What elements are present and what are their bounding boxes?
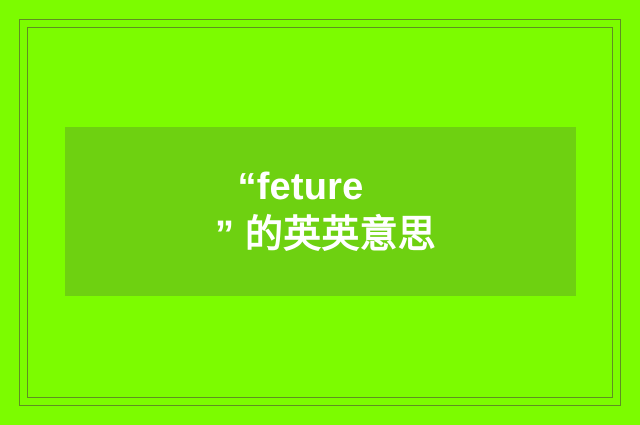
headline-line-1: “feture — [238, 167, 404, 208]
headline-line-2: ” 的英英意思 — [205, 215, 436, 256]
headline-panel: “feture ” 的英英意思 — [65, 127, 576, 296]
title-card: “feture ” 的英英意思 — [0, 0, 640, 425]
